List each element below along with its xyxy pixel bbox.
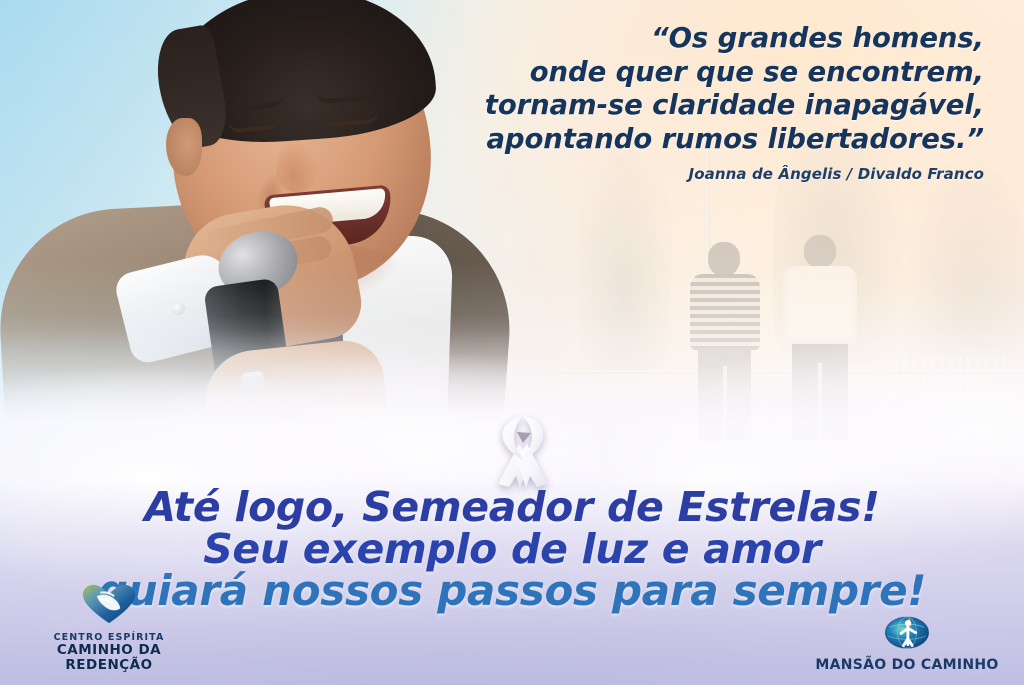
globe-figure-icon [802, 610, 1012, 654]
quote-line-1: “Os grandes homens, [344, 22, 984, 56]
quote-line-2: onde quer que se encontrem, [344, 56, 984, 90]
memorial-poster: “Os grandes homens, onde quer que se enc… [0, 0, 1024, 685]
logo-mansao-do-caminho: MANSÃO DO CAMINHO [802, 610, 1012, 673]
logo-left-label: CAMINHO DA REDENÇÃO [14, 643, 204, 673]
logo-right-label: MANSÃO DO CAMINHO [802, 658, 1012, 673]
quote-line-4: apontando rumos libertadores.” [344, 123, 984, 157]
memorial-ribbon-icon [486, 408, 560, 492]
quote-line-3: tornam-se claridade inapagável, [344, 89, 984, 123]
logo-centro-espirita: CENTRO ESPÍRITA CAMINHO DA REDENÇÃO [14, 584, 204, 673]
headline-line-1: Até logo, Semeador de Estrelas! [0, 486, 1024, 528]
quote-attribution: Joanna de Ângelis / Divaldo Franco [344, 165, 984, 183]
headline-line-2: Seu exemplo de luz e amor [0, 528, 1024, 570]
quote-block: “Os grandes homens, onde quer que se enc… [344, 22, 984, 183]
heart-hands-icon [14, 584, 204, 628]
